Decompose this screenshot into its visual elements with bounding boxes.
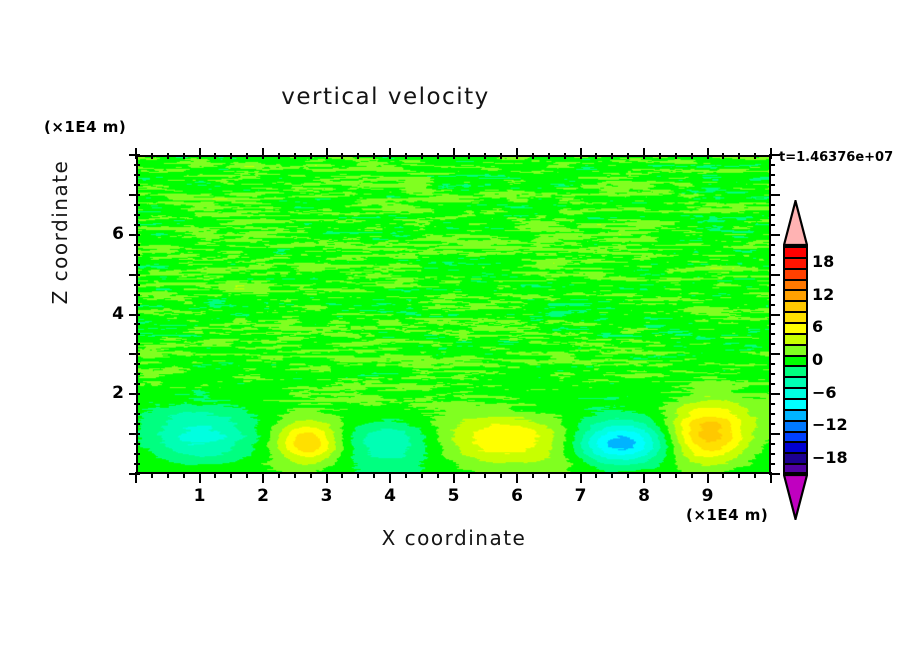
contour-plot-area [136, 155, 771, 474]
axis-tick [769, 373, 775, 375]
axis-tick [484, 153, 486, 159]
axis-tick [595, 472, 597, 478]
colorbar-separator [783, 344, 808, 346]
colorbar-separator [783, 452, 808, 454]
axis-tick [326, 472, 328, 483]
axis-tick [769, 264, 775, 266]
axis-tick [468, 472, 470, 478]
axis-tick [722, 472, 724, 478]
axis-tick [278, 472, 280, 478]
axis-tick [134, 423, 140, 425]
axis-tick [151, 153, 153, 159]
axis-tick [769, 443, 775, 445]
axis-tick [421, 153, 423, 159]
colorbar-separator [783, 246, 808, 248]
axis-tick [769, 204, 775, 206]
axis-tick [246, 153, 248, 159]
axis-tick [183, 153, 185, 159]
axis-tick [151, 472, 153, 478]
axis-tick [199, 148, 201, 159]
axis-tick [405, 472, 407, 478]
axis-tick [373, 153, 375, 159]
colorbar-separator [783, 376, 808, 378]
axis-tick [134, 363, 140, 365]
axis-tick [722, 153, 724, 159]
axis-tick [341, 153, 343, 159]
axis-tick [262, 148, 264, 159]
axis-tick [129, 194, 140, 196]
axis-tick [134, 443, 140, 445]
axis-tick [707, 472, 709, 483]
axis-tick [129, 433, 140, 435]
axis-tick [627, 153, 629, 159]
axis-tick [754, 472, 756, 478]
axis-tick [278, 153, 280, 159]
axis-tick [564, 153, 566, 159]
colorbar-separator [783, 463, 808, 465]
colorbar-separator [783, 420, 808, 422]
x-tick-label: 2 [243, 486, 283, 506]
axis-tick [769, 164, 775, 166]
axis-tick [214, 153, 216, 159]
axis-tick [659, 153, 661, 159]
axis-tick [675, 472, 677, 478]
colorbar-separator [783, 409, 808, 411]
axis-tick [769, 413, 775, 415]
axis-tick [532, 153, 534, 159]
axis-tick [769, 174, 775, 176]
axis-tick [134, 304, 140, 306]
axis-tick [246, 472, 248, 478]
axis-tick [691, 472, 693, 478]
axis-tick [134, 294, 140, 296]
colorbar-tick-label: 0 [812, 350, 823, 369]
axis-tick [769, 403, 775, 405]
axis-tick [769, 353, 780, 355]
axis-tick [167, 153, 169, 159]
axis-tick [134, 264, 140, 266]
axis-tick [129, 234, 140, 236]
axis-tick [769, 333, 775, 335]
axis-tick [230, 472, 232, 478]
colorbar-separator [783, 257, 808, 259]
colorbar-separator [783, 431, 808, 433]
axis-tick [357, 472, 359, 478]
x-tick-label: 4 [370, 486, 410, 506]
axis-tick [548, 153, 550, 159]
x-tick-label: 3 [307, 486, 347, 506]
axis-tick [134, 373, 140, 375]
axis-tick [769, 383, 775, 385]
axis-tick [134, 403, 140, 405]
x-tick-label: 1 [180, 486, 220, 506]
axis-tick [373, 472, 375, 478]
axis-tick [532, 472, 534, 478]
x-tick-label: 5 [434, 486, 474, 506]
colorbar-tick-label: 18 [812, 252, 834, 271]
axis-tick [199, 472, 201, 483]
x-axis-title: X coordinate [136, 526, 772, 550]
axis-tick [769, 214, 775, 216]
axis-tick [310, 472, 312, 478]
colorbar-tick-label: −6 [812, 383, 837, 402]
axis-tick [468, 153, 470, 159]
colorbar-separator [783, 289, 808, 291]
colorbar-tick-label: −18 [812, 448, 848, 467]
axis-tick [134, 453, 140, 455]
axis-tick [769, 194, 780, 196]
axis-tick [595, 153, 597, 159]
timestamp-label: t=1.46376e+07 [779, 150, 893, 165]
colorbar-separator [783, 300, 808, 302]
figure-canvas: vertical velocity (×1E4 m) (×1E4 m) Z co… [0, 0, 904, 654]
axis-tick [341, 472, 343, 478]
axis-tick [134, 164, 140, 166]
y-tick-label: 2 [84, 383, 124, 403]
axis-tick [659, 472, 661, 478]
axis-tick [326, 148, 328, 159]
axis-tick [484, 472, 486, 478]
axis-tick [754, 153, 756, 159]
colorbar-tick-label: 12 [812, 285, 834, 304]
x-tick-label: 8 [624, 486, 664, 506]
axis-tick [611, 472, 613, 478]
axis-tick [357, 153, 359, 159]
axis-tick [134, 413, 140, 415]
axis-tick [129, 314, 140, 316]
axis-tick [769, 304, 775, 306]
axis-tick [134, 383, 140, 385]
axis-tick [134, 184, 140, 186]
axis-tick [769, 393, 780, 395]
axis-tick [643, 148, 645, 159]
x-tick-label: 9 [688, 486, 728, 506]
axis-tick [691, 153, 693, 159]
axis-tick [294, 153, 296, 159]
axis-tick [294, 472, 296, 478]
axis-tick [516, 472, 518, 483]
axis-tick [580, 148, 582, 159]
axis-tick [437, 153, 439, 159]
contour-field [138, 157, 769, 472]
axis-tick [262, 472, 264, 483]
colorbar-separator [783, 268, 808, 270]
axis-tick [769, 473, 780, 475]
axis-tick [214, 472, 216, 478]
axis-tick [769, 224, 775, 226]
axis-tick [134, 323, 140, 325]
axis-tick [421, 472, 423, 478]
axis-tick [134, 463, 140, 465]
axis-tick [769, 154, 780, 156]
axis-tick [738, 472, 740, 478]
axis-tick [769, 453, 775, 455]
axis-tick [675, 153, 677, 159]
axis-tick [564, 472, 566, 478]
axis-tick [738, 153, 740, 159]
axis-tick [389, 472, 391, 483]
axis-tick [707, 148, 709, 159]
axis-tick [769, 244, 775, 246]
y-tick-label: 6 [84, 224, 124, 244]
axis-tick [769, 363, 775, 365]
axis-tick [769, 314, 780, 316]
axis-tick [134, 333, 140, 335]
colorbar-separator [783, 355, 808, 357]
colorbar-separator [783, 333, 808, 335]
colorbar-separator [783, 311, 808, 313]
x-tick-label: 6 [497, 486, 537, 506]
colorbar-separator [783, 365, 808, 367]
colorbar-under-arrow [783, 474, 808, 520]
axis-tick [129, 274, 140, 276]
colorbar-tick-label: −12 [812, 415, 848, 434]
y-axis-title: Z coordinate [48, 132, 72, 332]
axis-tick [134, 244, 140, 246]
axis-tick [611, 153, 613, 159]
axis-tick [134, 284, 140, 286]
axis-tick [548, 472, 550, 478]
axis-tick [500, 153, 502, 159]
colorbar-tick-label: 6 [812, 317, 823, 336]
x-tick-label: 7 [561, 486, 601, 506]
colorbar-separator [783, 441, 808, 443]
axis-tick [453, 472, 455, 483]
axis-tick [627, 472, 629, 478]
axis-tick [310, 153, 312, 159]
axis-tick [405, 153, 407, 159]
axis-tick [769, 274, 780, 276]
axis-tick [453, 148, 455, 159]
colorbar-separator [783, 279, 808, 281]
axis-tick [769, 343, 775, 345]
axis-tick [643, 472, 645, 483]
axis-tick [134, 214, 140, 216]
page-title: vertical velocity [0, 84, 771, 110]
axis-tick [134, 174, 140, 176]
x-axis-unit-label: (×1E4 m) [686, 506, 768, 524]
axis-tick [167, 472, 169, 478]
axis-tick [769, 294, 775, 296]
colorbar-separator [783, 322, 808, 324]
axis-tick [134, 224, 140, 226]
axis-tick [134, 254, 140, 256]
axis-tick [769, 423, 775, 425]
axis-tick [516, 148, 518, 159]
axis-tick [769, 323, 775, 325]
colorbar-separator [783, 398, 808, 400]
colorbar-over-arrow [783, 200, 808, 246]
axis-tick [769, 463, 775, 465]
axis-tick [129, 353, 140, 355]
axis-tick [183, 472, 185, 478]
colorbar-separator [783, 387, 808, 389]
axis-tick [769, 433, 780, 435]
axis-tick [389, 148, 391, 159]
y-tick-label: 4 [84, 304, 124, 324]
axis-tick [769, 234, 780, 236]
axis-tick [134, 343, 140, 345]
axis-tick [769, 284, 775, 286]
axis-tick [129, 473, 140, 475]
axis-tick [580, 472, 582, 483]
axis-tick [769, 254, 775, 256]
axis-tick [129, 393, 140, 395]
axis-tick [134, 204, 140, 206]
axis-tick [230, 153, 232, 159]
axis-tick [769, 184, 775, 186]
axis-tick [437, 472, 439, 478]
axis-tick [500, 472, 502, 478]
axis-tick [129, 154, 140, 156]
colorbar [783, 246, 808, 474]
